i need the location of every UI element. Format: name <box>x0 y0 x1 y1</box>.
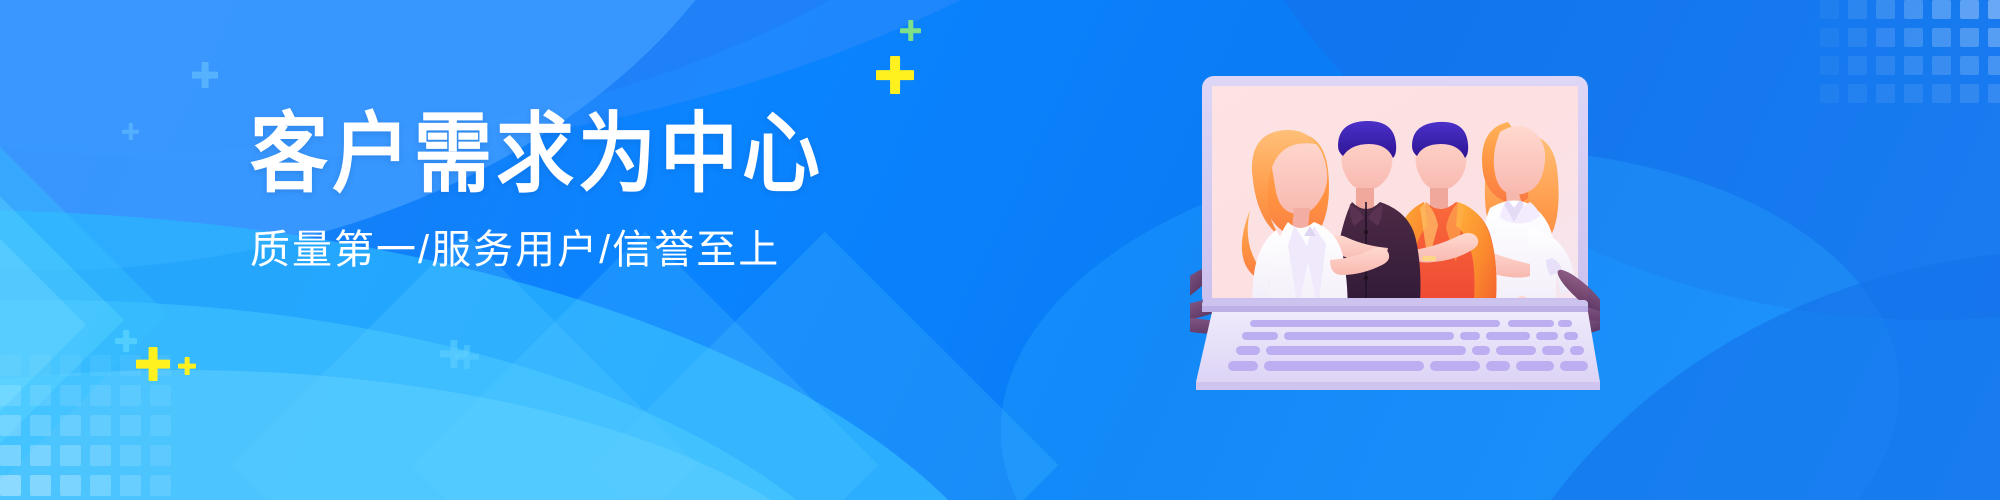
cross-icon-cyan-topleft-a <box>192 62 218 88</box>
grid-square <box>1848 28 1867 47</box>
grid-square <box>90 475 111 496</box>
grid-square <box>1932 28 1951 47</box>
grid-square <box>30 445 51 466</box>
laptop-keyboard-base <box>1196 312 1600 390</box>
cross-icon-green-right-small <box>900 20 921 41</box>
grid-square <box>0 385 21 406</box>
grid-square <box>30 475 51 496</box>
grid-square <box>0 475 21 496</box>
grid-square <box>150 385 171 406</box>
grid-square <box>120 415 141 436</box>
grid-square <box>1960 56 1979 75</box>
grid-square <box>1820 28 1839 47</box>
grid-square <box>30 385 51 406</box>
grid-square <box>1876 28 1895 47</box>
grid-square <box>1988 28 2000 47</box>
grid-square <box>150 415 171 436</box>
grid-square <box>60 475 81 496</box>
grid-square <box>1848 56 1867 75</box>
grid-square <box>120 385 141 406</box>
grid-square <box>1932 84 1951 103</box>
grid-square <box>1848 84 1867 103</box>
grid-square <box>1876 56 1895 75</box>
grid-square <box>1988 0 2000 19</box>
grid-square <box>1988 84 2000 103</box>
cross-icon-yellow-right-large <box>876 56 914 94</box>
grid-square <box>1904 84 1923 103</box>
grid-square <box>1988 56 2000 75</box>
grid-square <box>1848 0 1867 19</box>
cross-icon-cyan-topleft-b <box>122 123 139 140</box>
laptop-illustration <box>1190 60 1600 390</box>
cross-icon-yellow-bottomleft-small <box>178 357 196 375</box>
grid-square <box>1904 28 1923 47</box>
grid-square <box>120 445 141 466</box>
grid-square <box>90 415 111 436</box>
grid-square <box>1960 28 1979 47</box>
grid-square <box>60 445 81 466</box>
grid-square <box>1932 0 1951 19</box>
banner-headline: 客户需求为中心 <box>250 110 890 197</box>
grid-square <box>1960 84 1979 103</box>
grid-square <box>0 355 21 376</box>
grid-square <box>1904 56 1923 75</box>
banner-subline: 质量第一/服务用户/信誉至上 <box>250 230 890 270</box>
grid-square <box>150 475 171 496</box>
banner-text-block: 客户需求为中心 质量第一/服务用户/信誉至上 <box>250 110 890 270</box>
grid-square <box>1820 0 1839 19</box>
grid-square <box>1820 56 1839 75</box>
grid-square <box>90 445 111 466</box>
cross-icon-cyan-bottomleft <box>115 330 137 352</box>
grid-square <box>150 445 171 466</box>
grid-square <box>1960 0 1979 19</box>
grid-square <box>1876 84 1895 103</box>
grid-square <box>1932 56 1951 75</box>
grid-square <box>60 415 81 436</box>
cross-icon-cyan-bottom-right <box>455 345 479 369</box>
grid-square <box>60 355 81 376</box>
grid-square <box>1904 0 1923 19</box>
cross-icon-yellow-bottomleft-large <box>136 347 170 381</box>
grid-square <box>120 475 141 496</box>
grid-square <box>1820 84 1839 103</box>
grid-square <box>1876 0 1895 19</box>
grid-square <box>60 385 81 406</box>
grid-square <box>0 445 21 466</box>
grid-square <box>90 385 111 406</box>
promo-banner: 客户需求为中心 质量第一/服务用户/信誉至上 <box>0 0 2000 500</box>
grid-square <box>30 415 51 436</box>
grid-square <box>0 415 21 436</box>
grid-square <box>90 355 111 376</box>
grid-square <box>30 355 51 376</box>
